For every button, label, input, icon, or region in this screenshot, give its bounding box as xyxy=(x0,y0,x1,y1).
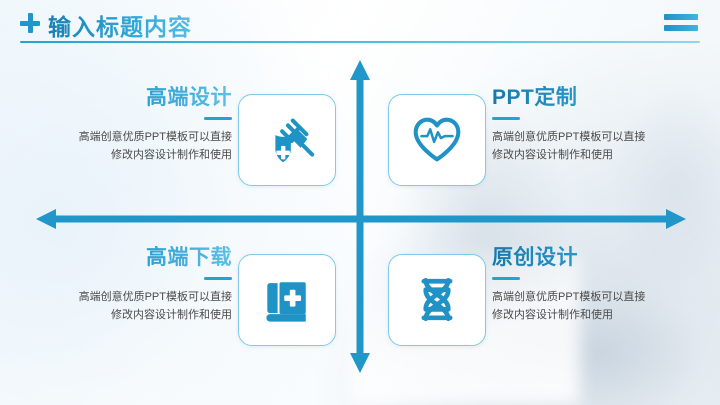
plus-icon xyxy=(20,13,40,33)
quadrant-desc-line-1: 高端创意优质PPT模板可以直接 xyxy=(492,289,692,307)
quadrant-desc-line-1: 高端创意优质PPT模板可以直接 xyxy=(492,129,692,147)
quadrant-bottom-right-text: 原创设计 高端创意优质PPT模板可以直接 修改内容设计制作和使用 xyxy=(492,246,692,324)
slide-header: 输入标题内容 xyxy=(0,0,720,46)
quadrant-title: PPT定制 xyxy=(492,86,692,109)
medical-book-icon[interactable] xyxy=(238,254,336,346)
slide-canvas: 输入标题内容 xyxy=(0,0,720,405)
quadrant-desc-line-2: 修改内容设计制作和使用 xyxy=(492,147,692,165)
quadrant-desc-line-1: 高端创意优质PPT模板可以直接 xyxy=(34,289,232,307)
title-underline xyxy=(492,277,520,280)
menu-bar-1 xyxy=(664,14,698,20)
title-underline xyxy=(204,117,232,120)
quadrant-desc-line-1: 高端创意优质PPT模板可以直接 xyxy=(34,129,232,147)
page-title: 输入标题内容 xyxy=(48,8,192,42)
quadrant-title: 原创设计 xyxy=(492,246,692,269)
quadrant-top-left-text: 高端设计 高端创意优质PPT模板可以直接 修改内容设计制作和使用 xyxy=(34,86,232,164)
heart-heartbeat-icon[interactable] xyxy=(388,94,486,186)
title-underline xyxy=(204,277,232,280)
quadrant-title: 高端设计 xyxy=(34,86,232,109)
quadrant-title: 高端下载 xyxy=(34,246,232,269)
menu-bar-2 xyxy=(664,25,698,31)
hamburger-menu-icon[interactable] xyxy=(664,14,698,34)
quadrant-top-right-text: PPT定制 高端创意优质PPT模板可以直接 修改内容设计制作和使用 xyxy=(492,86,692,164)
quadrant-bottom-left-text: 高端下载 高端创意优质PPT模板可以直接 修改内容设计制作和使用 xyxy=(34,246,232,324)
header-divider xyxy=(20,41,700,43)
dna-helix-icon[interactable] xyxy=(388,254,486,346)
quadrant-desc-line-2: 修改内容设计制作和使用 xyxy=(34,147,232,165)
quadrant-axes xyxy=(0,0,720,405)
quadrant-desc-line-2: 修改内容设计制作和使用 xyxy=(492,307,692,325)
quadrant-desc-line-2: 修改内容设计制作和使用 xyxy=(34,307,232,325)
syringe-shield-icon[interactable] xyxy=(238,94,336,186)
title-underline xyxy=(492,117,520,120)
